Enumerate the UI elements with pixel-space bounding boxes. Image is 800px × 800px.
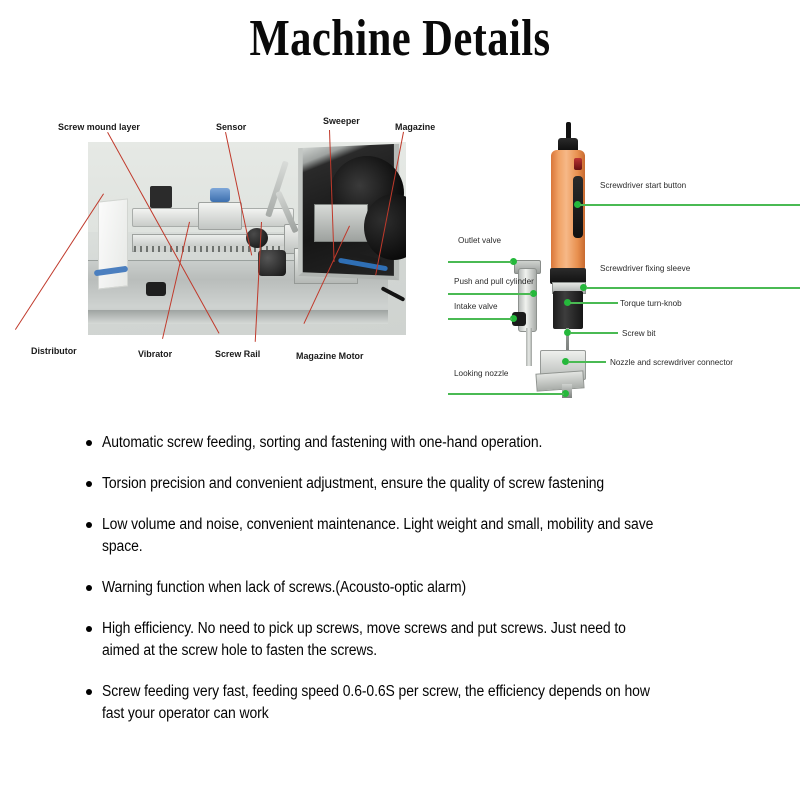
leader-line-nozzle-and-screwdriver-connector bbox=[568, 361, 606, 363]
machine-base-front-edge bbox=[88, 310, 388, 324]
label-screw-bit: Screw bit bbox=[622, 328, 656, 338]
machine-block-a bbox=[198, 202, 242, 230]
leader-line-push-and-pull-cylinder bbox=[448, 293, 532, 295]
label-intake-valve: Intake valve bbox=[454, 301, 498, 311]
machine-motor bbox=[150, 186, 172, 208]
figure-band: Screw mound layer Sensor Sweeper Magazin… bbox=[0, 100, 800, 400]
label-screwdriver-fixing-sleeve: Screwdriver fixing sleeve bbox=[600, 263, 690, 273]
leader-line-intake-valve bbox=[448, 318, 512, 320]
machine-blue-fitting bbox=[210, 188, 230, 202]
label-outlet-valve: Outlet valve bbox=[458, 235, 501, 245]
leader-line-looking-nozzle bbox=[448, 393, 564, 395]
screwdriver-diagram: Screwdriver start button Outlet valve Sc… bbox=[440, 100, 800, 400]
feature-list: Automatic screw feeding, sorting and fas… bbox=[86, 432, 726, 744]
leader-line-screwdriver-fixing-sleeve bbox=[586, 287, 800, 289]
machine-white-guard-plate bbox=[98, 198, 128, 289]
list-item: High efficiency. No need to pick up scre… bbox=[86, 618, 726, 662]
label-magazine: Magazine bbox=[395, 122, 435, 133]
label-nozzle-and-screwdriver-connector: Nozzle and screwdriver connector bbox=[610, 357, 733, 367]
label-screw-rail: Screw Rail bbox=[215, 349, 260, 360]
label-screw-mound-layer: Screw mound layer bbox=[58, 122, 140, 133]
label-push-and-pull-cylinder: Push and pull cylinder bbox=[454, 276, 534, 286]
leader-line-screwdriver-start-button bbox=[580, 204, 800, 206]
bullet-icon bbox=[86, 585, 92, 591]
list-item: Automatic screw feeding, sorting and fas… bbox=[86, 432, 726, 454]
machine-vibrator-body bbox=[258, 250, 286, 276]
label-sweeper: Sweeper bbox=[323, 116, 360, 127]
feature-text: Automatic screw feeding, sorting and fas… bbox=[102, 432, 664, 454]
label-torque-turn-knob: Torque turn-knob bbox=[620, 298, 682, 308]
feature-text: Low volume and noise, convenient mainten… bbox=[102, 514, 664, 558]
feature-text: Warning function when lack of screws.(Ac… bbox=[102, 577, 664, 599]
feature-text: High efficiency. No need to pick up scre… bbox=[102, 618, 664, 662]
bullet-icon bbox=[86, 626, 92, 632]
machine-hopper-plate bbox=[314, 204, 368, 242]
cylinder-rod bbox=[526, 328, 532, 366]
machine-distributor-motor bbox=[146, 282, 166, 296]
label-vibrator: Vibrator bbox=[138, 349, 172, 360]
list-item: Low volume and noise, convenient mainten… bbox=[86, 514, 726, 558]
bullet-icon bbox=[86, 689, 92, 695]
list-item: Torsion precision and convenient adjustm… bbox=[86, 473, 726, 495]
label-screwdriver-start-button: Screwdriver start button bbox=[600, 180, 686, 190]
page-title: Machine Details bbox=[72, 8, 728, 70]
label-sensor: Sensor bbox=[216, 122, 246, 133]
connector-lower-bracket bbox=[535, 370, 584, 391]
feature-text: Torsion precision and convenient adjustm… bbox=[102, 473, 664, 495]
label-distributor: Distributor bbox=[31, 346, 77, 357]
bullet-icon bbox=[86, 440, 92, 446]
bullet-icon bbox=[86, 522, 92, 528]
feature-text: Screw feeding very fast, feeding speed 0… bbox=[102, 681, 664, 725]
leader-line-outlet-valve bbox=[448, 261, 512, 263]
machine-diagram: Screw mound layer Sensor Sweeper Magazin… bbox=[0, 100, 460, 400]
list-item: Screw feeding very fast, feeding speed 0… bbox=[86, 681, 726, 725]
list-item: Warning function when lack of screws.(Ac… bbox=[86, 577, 726, 599]
bullet-icon bbox=[86, 481, 92, 487]
label-looking-nozzle: Looking nozzle bbox=[454, 368, 508, 378]
screwdriver-indicator-light bbox=[574, 158, 582, 170]
torque-turn-knob-part bbox=[553, 291, 583, 329]
leader-line-screw-bit bbox=[570, 332, 618, 334]
leader-line-torque-turn-knob bbox=[570, 302, 618, 304]
label-magazine-motor: Magazine Motor bbox=[296, 351, 363, 362]
